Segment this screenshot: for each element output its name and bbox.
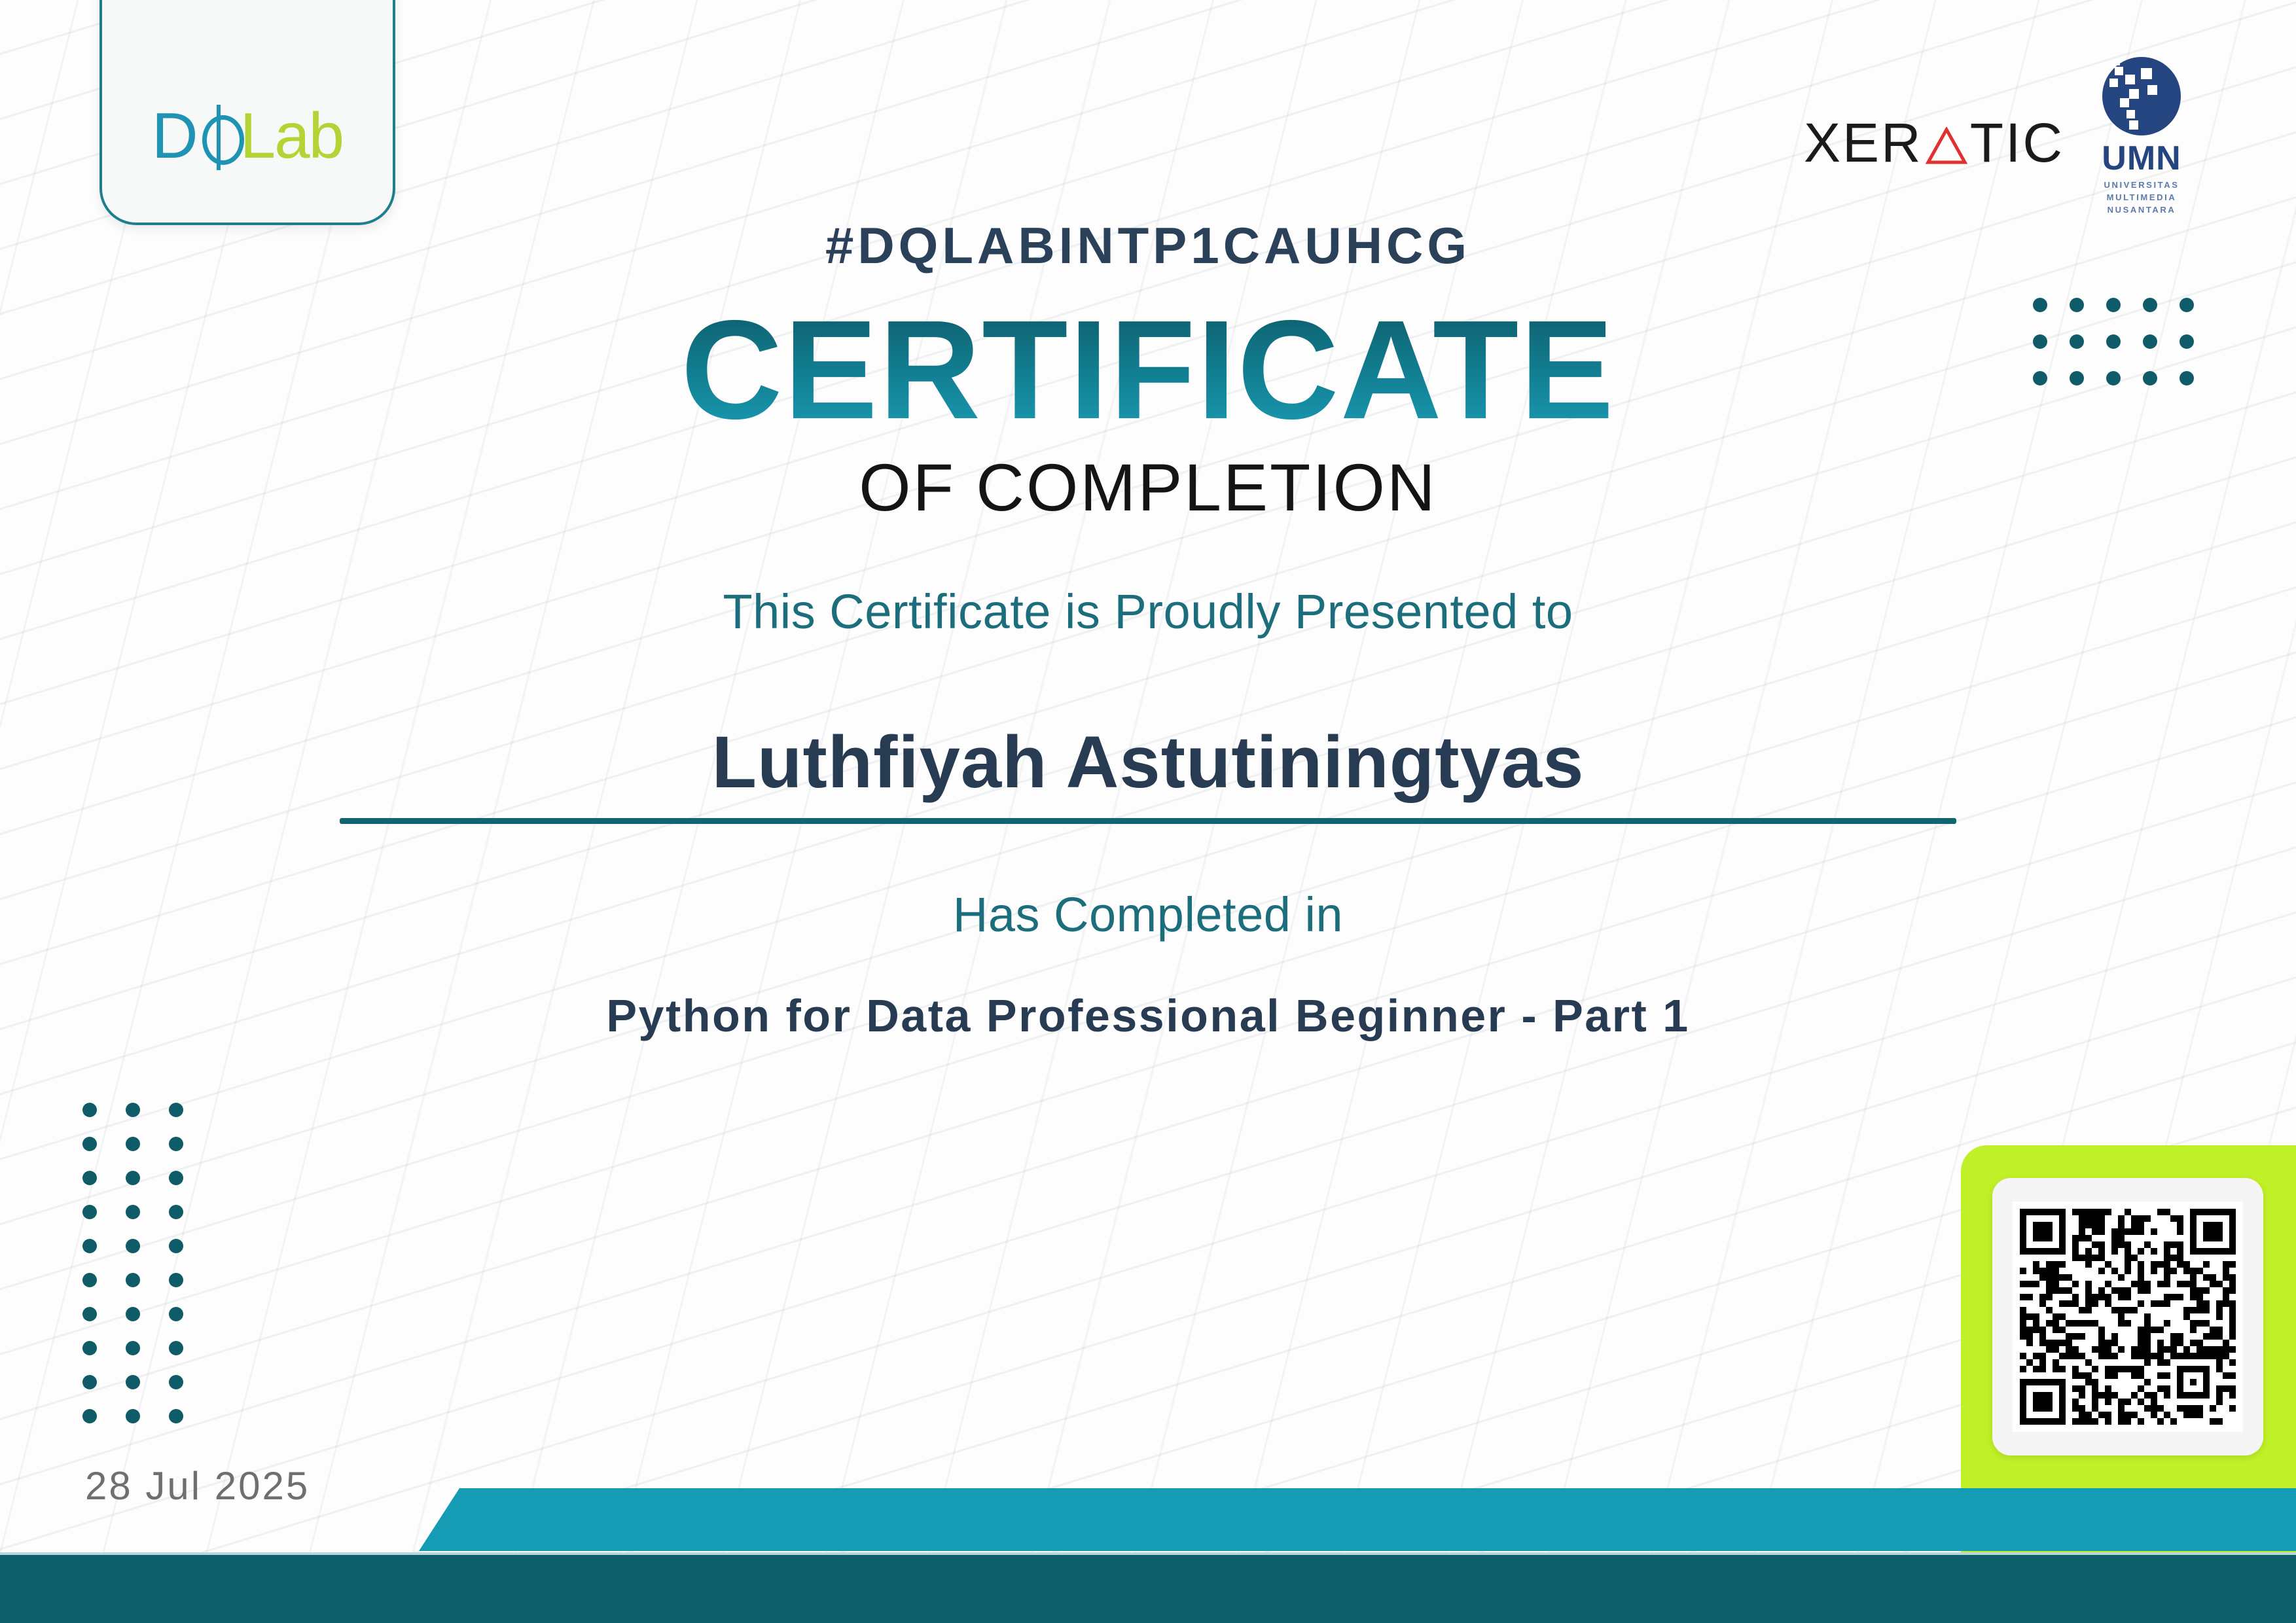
- dqlab-logo-badge: D Lab: [99, 0, 395, 225]
- dqlab-logo-part-two: Lab: [240, 103, 344, 168]
- qr-code-icon[interactable]: [2013, 1202, 2243, 1432]
- qr-code-panel: [1961, 1145, 2296, 1623]
- xeratic-segment-two: TIC: [1970, 111, 2064, 175]
- certificate-hashtag: #DQLABINTP1CAUHCG: [825, 216, 1471, 276]
- certificate-content: #DQLABINTP1CAUHCG CERTIFICATE OF COMPLET…: [0, 0, 2296, 1623]
- umn-circle-mark-icon: [2100, 55, 2183, 137]
- qr-code-card: [1992, 1178, 2263, 1455]
- xeratic-logo-icon: XER TIC: [1804, 111, 2064, 175]
- bottom-bar: [0, 1552, 2296, 1623]
- dqlab-phi-glyph-icon: [198, 105, 239, 166]
- umn-name-line-3: NUSANTARA: [2104, 204, 2179, 217]
- certificate-subtitle: OF COMPLETION: [859, 454, 1437, 521]
- partner-logos: XER TIC UMN: [1804, 55, 2197, 217]
- umn-acronym: UMN: [2102, 141, 2181, 175]
- recipient-name: Luthfiyah Astutiningtyas: [712, 722, 1585, 802]
- dqlab-logo-icon: D Lab: [152, 103, 343, 168]
- umn-logo-icon: UMN UNIVERSITAS MULTIMEDIA NUSANTARA: [2087, 55, 2197, 217]
- dqlab-logo-part-one: D: [152, 103, 197, 168]
- course-title: Python for Data Professional Beginner - …: [606, 990, 1689, 1042]
- xeratic-segment-one: XER: [1804, 111, 1923, 175]
- umn-name-line-1: UNIVERSITAS: [2104, 179, 2179, 192]
- bottom-ribbon: [419, 1488, 2296, 1551]
- recipient-block: Luthfiyah Astutiningtyas: [340, 722, 1956, 824]
- certificate-page: D Lab XER TIC: [0, 0, 2296, 1623]
- umn-name-line-2: MULTIMEDIA: [2104, 192, 2179, 204]
- issue-date: 28 Jul 2025: [85, 1463, 310, 1508]
- presented-to-label: This Certificate is Proudly Presented to: [723, 584, 1573, 639]
- recipient-underline: [340, 818, 1956, 824]
- completed-in-label: Has Completed in: [953, 887, 1343, 942]
- umn-full-name: UNIVERSITAS MULTIMEDIA NUSANTARA: [2104, 179, 2179, 217]
- xeratic-triangle-icon: [1926, 127, 1967, 165]
- page-title: CERTIFICATE: [681, 299, 1615, 440]
